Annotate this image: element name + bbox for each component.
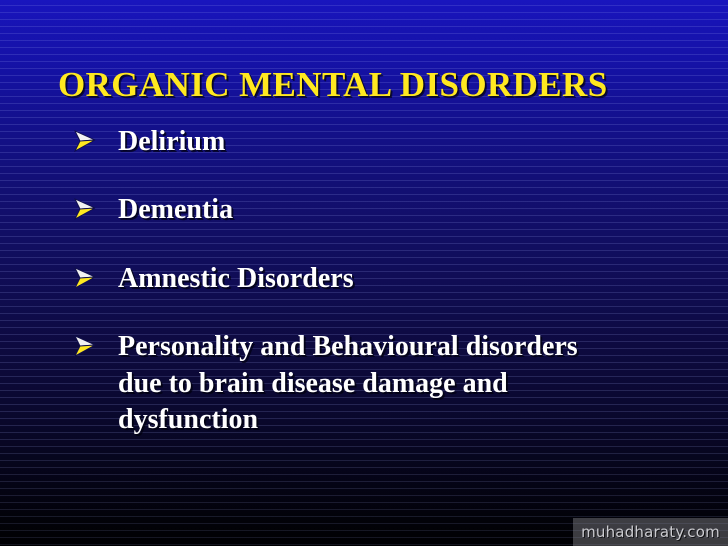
slide-title: ORGANIC MENTAL DISORDERS [58,67,698,104]
arrowhead-bullet-icon [72,265,118,295]
list-item-label: Amnestic Disorders [118,261,354,297]
presentation-slide: ORGANIC MENTAL DISORDERS Delirium Dement… [0,0,728,546]
list-item: Delirium [72,124,672,160]
list-item-label: Delirium [118,124,225,160]
list-item-label: Personality and Behavioural disorders du… [118,329,588,438]
list-item: Personality and Behavioural disorders du… [72,329,672,438]
arrowhead-bullet-icon [72,333,118,363]
watermark-label: muhadharaty.com [581,523,720,541]
list-item: Dementia [72,192,672,228]
bullet-list: Delirium Dementia Amnestic Disorders [72,124,672,438]
list-item-label: Dementia [118,192,233,228]
list-item: Amnestic Disorders [72,261,672,297]
arrowhead-bullet-icon [72,196,118,226]
arrowhead-bullet-icon [72,128,118,158]
watermark-badge: muhadharaty.com [573,518,728,546]
